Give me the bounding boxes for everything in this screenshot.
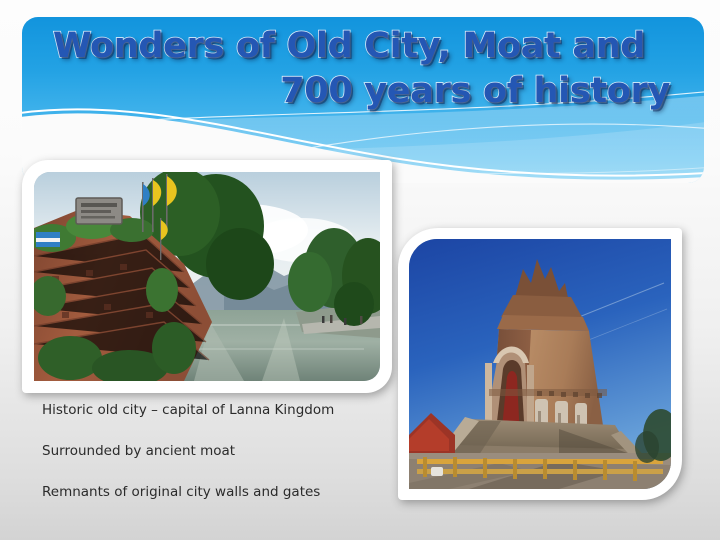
body-line-1: Historic old city – capital of Lanna Kin…	[42, 402, 387, 419]
header-banner	[22, 17, 704, 183]
body-line-3: Remnants of original city walls and gate…	[42, 484, 387, 501]
photo-wat-chedi-luang-image	[409, 239, 671, 489]
body-line-2: Surrounded by ancient moat	[42, 443, 387, 460]
body-text-block: Historic old city – capital of Lanna Kin…	[42, 402, 387, 501]
photo-wat-chedi-luang[interactable]	[398, 228, 682, 500]
presentation-slide: Wonders of Old City, Moat and 700 years …	[0, 0, 720, 540]
photo-old-city-wall-image	[34, 172, 380, 381]
photo-old-city-wall-and-moat[interactable]	[22, 160, 392, 393]
